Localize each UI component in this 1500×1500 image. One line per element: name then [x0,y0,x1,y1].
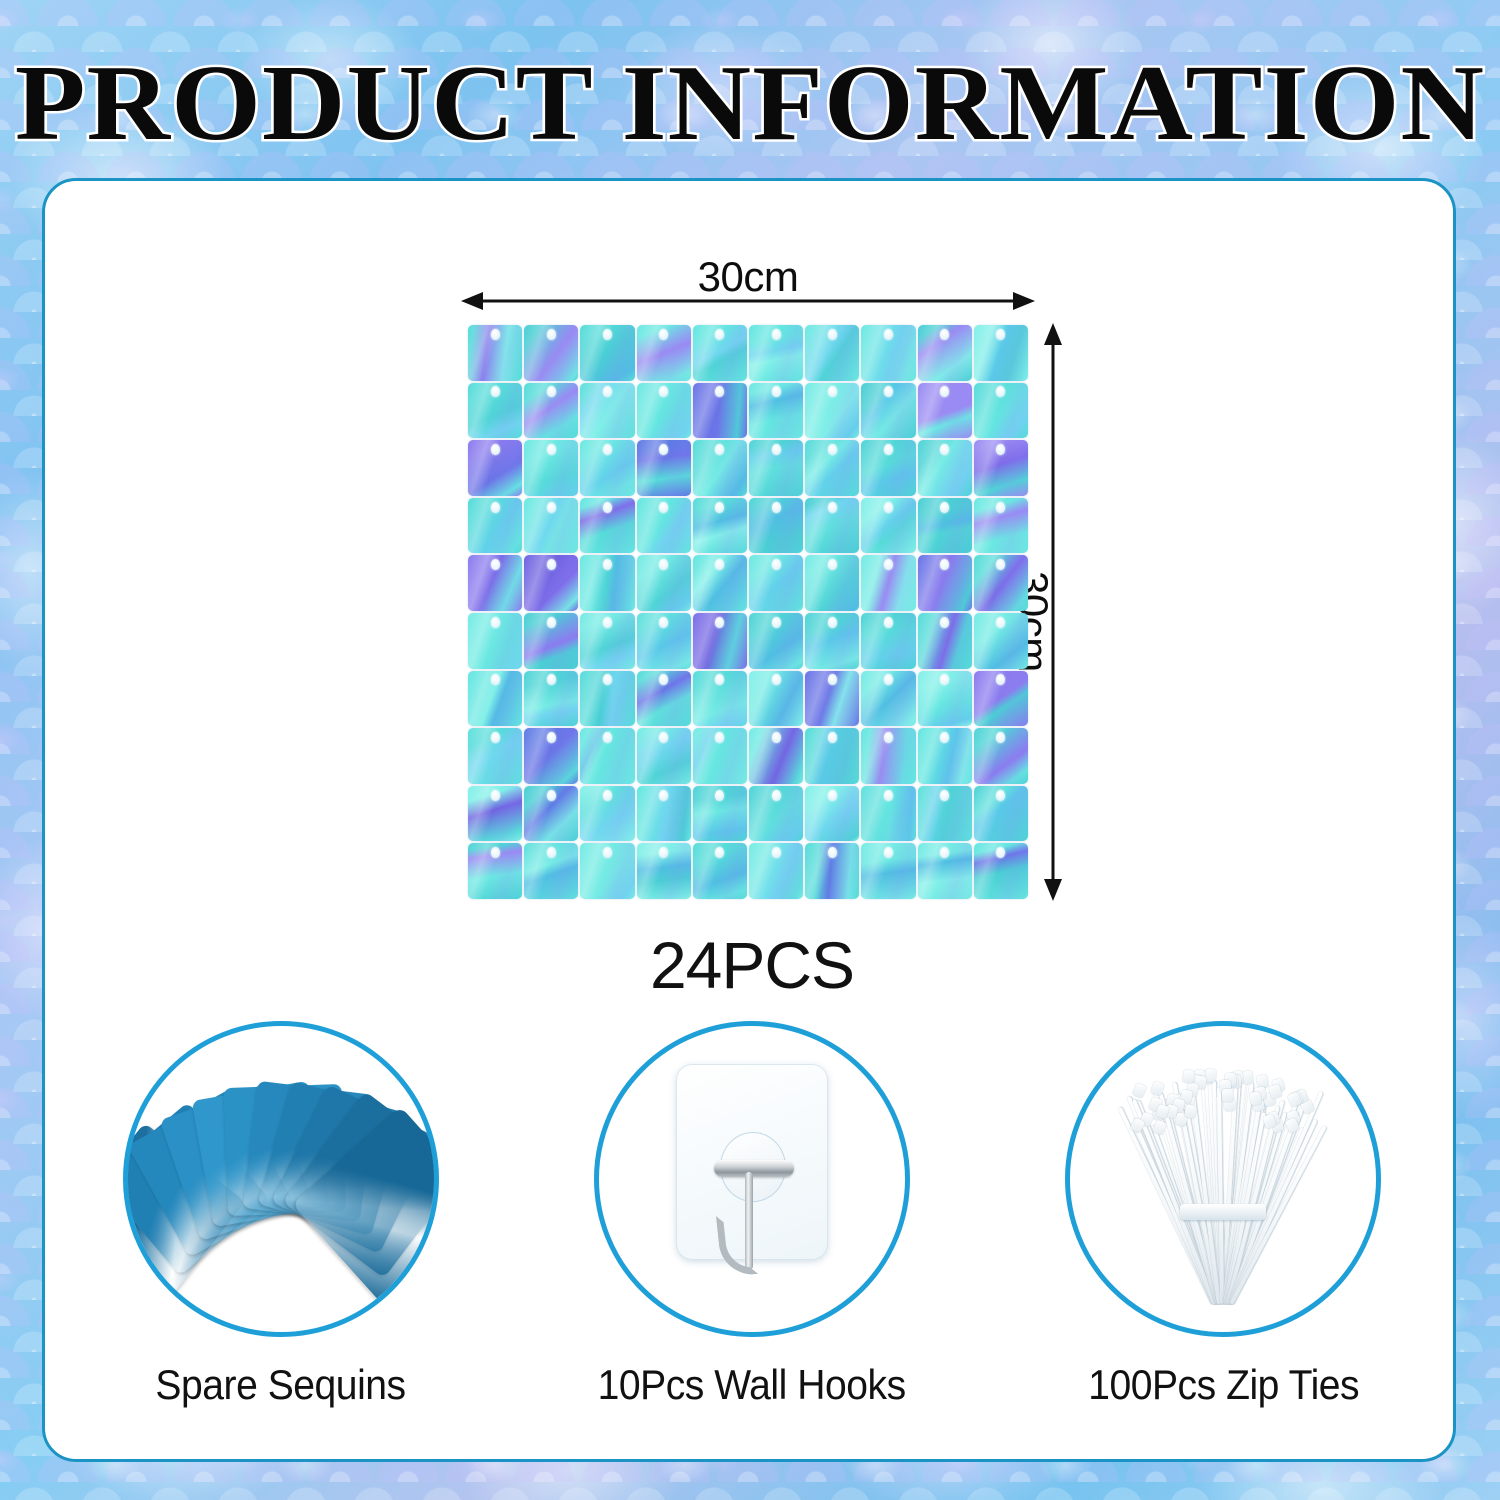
sequin-tile [468,613,522,669]
sequin-tile [468,440,522,496]
sequin-tile [861,671,915,727]
sequin-tile [693,786,747,842]
accessory-spare-sequins: Spare Sequins [101,1021,461,1409]
sequin-tile [749,728,803,784]
sequin-tile [918,383,972,439]
accessories-row: Spare Sequins 10Pcs Wall Hooks [45,1021,1459,1441]
sequin-tile [637,555,691,611]
accessory-zip-ties: 100Pcs Zip Ties [1043,1021,1403,1409]
sequin-tile [580,671,634,727]
sequin-tile [580,843,634,899]
wall-hooks-circle [594,1021,910,1337]
product-information-poster: PRODUCT INFORMATION 30cm 30cm 24PCS [0,0,1500,1500]
accessory-label: 10Pcs Wall Hooks [598,1361,906,1409]
sequin-tile [974,728,1028,784]
hook-curve [716,1212,758,1277]
zip-tie-head [1131,1083,1146,1099]
sequin-tile [749,555,803,611]
sequin-tile [524,325,578,381]
sequin-tile [974,843,1028,899]
hook-crossbar [714,1160,794,1177]
sequin-tile [918,555,972,611]
accessory-label: Spare Sequins [156,1361,406,1409]
sequin-tile [580,383,634,439]
sequin-tile [468,325,522,381]
sequin-tile [524,440,578,496]
sequin-tile [918,728,972,784]
sequin-tile [693,498,747,554]
sequin-tile [637,728,691,784]
sequin-tile [580,728,634,784]
width-dimension-arrow-icon [461,289,1035,313]
sequin-tile [693,440,747,496]
sequin-tile [580,325,634,381]
sequin-tile [637,671,691,727]
sequin-tile [580,613,634,669]
sequin-tile [693,325,747,381]
sequin-tile [580,440,634,496]
accessory-wall-hooks: 10Pcs Wall Hooks [572,1021,932,1409]
sequin-tile [805,498,859,554]
sequin-tile [861,843,915,899]
sequin-panel [468,325,1028,899]
sequin-tile [693,728,747,784]
zip-tie-head [1205,1069,1217,1083]
sequin-tile [918,671,972,727]
sequin-tile [861,786,915,842]
sequin-tile [974,325,1028,381]
sequin-tile [918,843,972,899]
zip-tie-band [1180,1204,1266,1220]
sequin-tile [468,671,522,727]
sequin-tile [468,843,522,899]
sequin-tile [524,786,578,842]
zip-tie-head [1222,1089,1233,1102]
sequin-tile [805,728,859,784]
sequin-tile [749,498,803,554]
sequin-tile [468,728,522,784]
sequin-tile [524,671,578,727]
sequin-tile [637,613,691,669]
spare-sequins-icon [156,1084,406,1274]
sequin-tile [468,383,522,439]
sequin-tile [805,440,859,496]
sequin-tile [749,786,803,842]
sequin-tile [468,786,522,842]
sequin-tile [861,383,915,439]
sequin-tile [693,613,747,669]
sequin-tile [637,498,691,554]
sequin-tile [693,843,747,899]
zip-tie-head [1242,1071,1255,1085]
sequin-tile [974,786,1028,842]
sequin-tile [693,383,747,439]
sequin-tile [918,440,972,496]
sequin-tile [805,843,859,899]
sequin-tile [749,671,803,727]
sequin-tile [918,786,972,842]
sequin-tile [580,555,634,611]
dimension-diagram: 30cm 30cm [45,181,1459,1001]
sequin-tile [580,786,634,842]
sequin-tile [637,325,691,381]
sequin-tile [693,671,747,727]
sequin-tile [637,843,691,899]
zip-ties-icon [1128,1054,1318,1304]
sequin-tile [805,383,859,439]
sequin-tile [974,498,1028,554]
sequin-tile [805,555,859,611]
sequin-tile [918,325,972,381]
wall-hook-icon [662,1064,842,1294]
sequin-tile [524,728,578,784]
sequin-tile [974,613,1028,669]
zip-ties-circle [1065,1021,1381,1337]
sequin-tile [805,671,859,727]
sequin-tile [580,498,634,554]
quantity-label: 24PCS [45,927,1459,1003]
sequin-tile [861,613,915,669]
sequin-tile [749,613,803,669]
sequin-tile [805,786,859,842]
accessory-label: 100Pcs Zip Ties [1088,1361,1359,1409]
sequin-tile [524,613,578,669]
sequin-tile [749,325,803,381]
sequin-tile [524,498,578,554]
sequin-tile [637,440,691,496]
sequin-tile [468,555,522,611]
sequin-tile [524,383,578,439]
sequin-tile [861,440,915,496]
sequin-tile [861,498,915,554]
sequin-tile [861,728,915,784]
sequin-tile [974,440,1028,496]
sequin-tile [861,555,915,611]
sequin-tile [637,786,691,842]
sequin-tile [974,671,1028,727]
sequin-tile [749,843,803,899]
sequin-tile [524,843,578,899]
sequin-tile [524,555,578,611]
sequin-tile [861,325,915,381]
sequin-tile [805,325,859,381]
sequin-tile [974,555,1028,611]
sequin-tile [805,613,859,669]
sequin-tile [974,383,1028,439]
sequin-tile [918,498,972,554]
info-card: 30cm 30cm 24PCS Spare Sequins [42,178,1456,1462]
zip-tie-head [1249,1091,1262,1106]
sequin-tile [468,498,522,554]
sequin-tile [749,440,803,496]
spare-sequins-circle [123,1021,439,1337]
sequin-tile [749,383,803,439]
page-title: PRODUCT INFORMATION [0,50,1500,158]
sequin-tile [918,613,972,669]
sequin-tile [693,555,747,611]
sequin-tile [637,383,691,439]
